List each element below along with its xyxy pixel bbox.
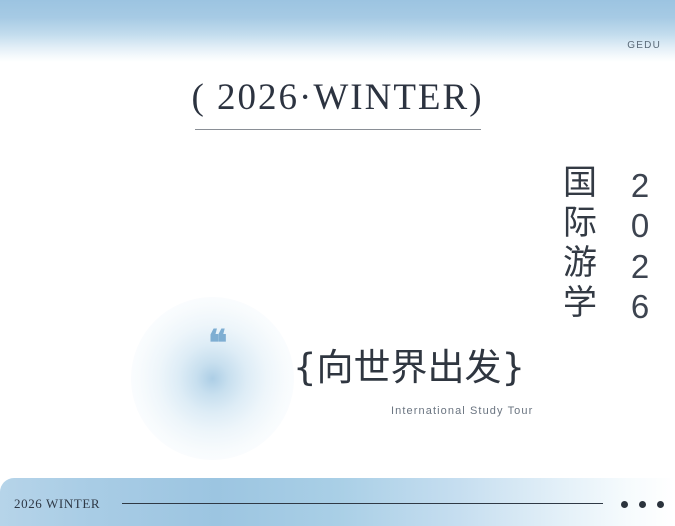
vertical-year-digit-2: 0: [622, 206, 658, 246]
vertical-year-digit-3: 2: [622, 247, 658, 287]
footer-bar: 2026 WINTER: [0, 478, 675, 526]
footer-divider: [122, 503, 603, 504]
slide-canvas: GEDU ( 2026·WINTER) 国 际 游 学 2 0 2 6 ❝ {向…: [0, 0, 675, 526]
footer-dot-2: [639, 501, 646, 508]
title-block: ( 2026·WINTER): [0, 76, 675, 130]
vertical-year-digit-1: 2: [622, 166, 658, 206]
vertical-year-digit-4: 6: [622, 287, 658, 327]
quote-mark-icon: ❝: [208, 325, 226, 361]
footer-dot-3: [657, 501, 664, 508]
footer-dot-1: [621, 501, 628, 508]
vertical-char-4: 学: [561, 283, 599, 323]
hero-headline: {向世界出发}: [293, 348, 525, 389]
vertical-char-1: 国: [561, 163, 599, 203]
hero-subtitle: International Study Tour: [391, 406, 533, 417]
brand-logo: GEDU: [627, 41, 661, 51]
title-divider: [195, 129, 481, 130]
footer-dots: [621, 501, 664, 508]
page-title: ( 2026·WINTER): [0, 76, 675, 120]
footer-label: 2026 WINTER: [14, 497, 100, 510]
vertical-char-3: 游: [561, 243, 599, 283]
vertical-chinese-title: 国 际 游 学: [561, 163, 599, 323]
vertical-year: 2 0 2 6: [622, 166, 658, 327]
top-gradient-band: [0, 0, 675, 62]
vertical-char-2: 际: [561, 203, 599, 243]
